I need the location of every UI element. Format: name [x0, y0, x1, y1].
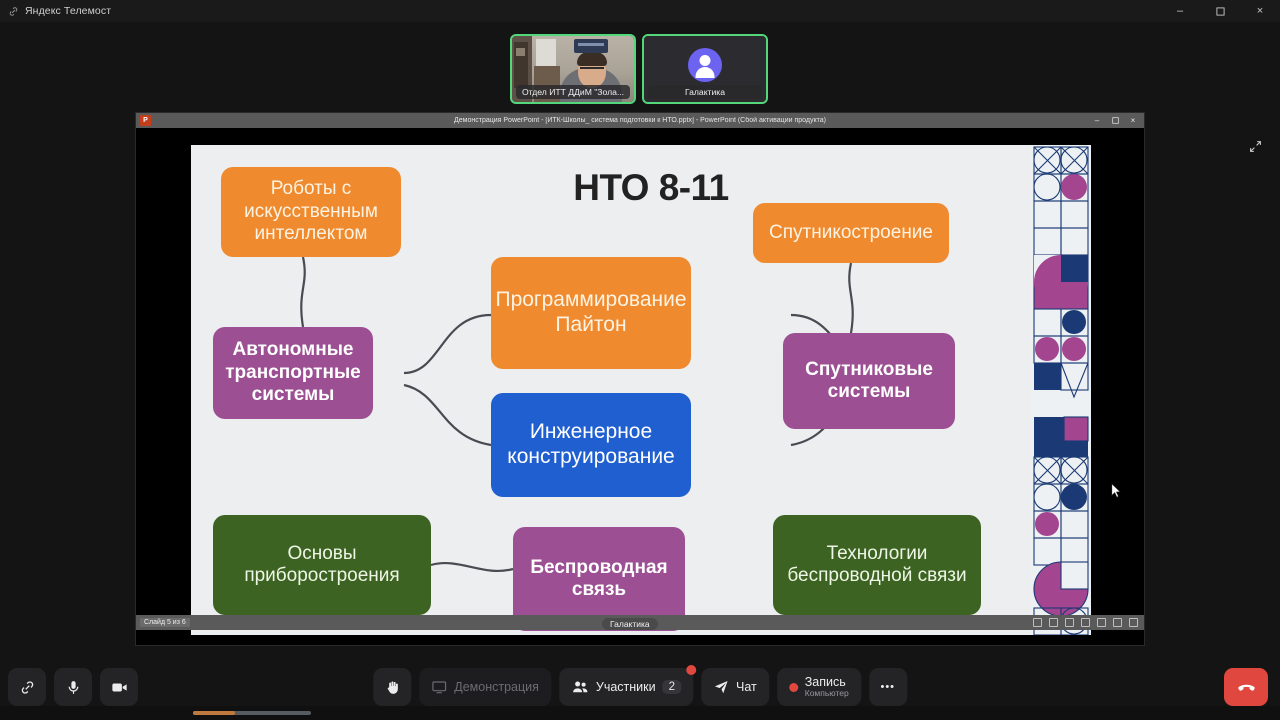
- participant-tile-avatar[interactable]: Галактика: [642, 34, 768, 104]
- slide-node-python: Программирование Пайтон: [491, 257, 691, 369]
- record-dot-icon: [789, 683, 798, 692]
- progress-bar[interactable]: [193, 711, 311, 715]
- window-minimize-button[interactable]: –: [1160, 0, 1200, 22]
- window-controls: – ×: [1160, 0, 1280, 22]
- app-title-bar: Яндекс Телемост – ×: [0, 0, 1280, 22]
- record-label: Запись: [805, 676, 846, 690]
- raise-hand-button[interactable]: [373, 668, 411, 706]
- previous-slide-icon[interactable]: [1033, 618, 1042, 627]
- meeting-stage: Отдел ИТТ ДДиМ "Зола... Галактика P Демо…: [0, 22, 1280, 656]
- powerpoint-window-controls: – ×: [1088, 113, 1142, 128]
- slide-node-satellite-build: Спутникостроение: [753, 203, 949, 263]
- people-icon: [571, 678, 589, 696]
- powerpoint-canvas: НТО 8-11 Роботы с искусственным интеллек…: [136, 128, 1144, 630]
- powerpoint-minimize-button[interactable]: –: [1088, 113, 1106, 128]
- demonstration-button[interactable]: Демонстрация: [419, 668, 551, 706]
- presentation-slide: НТО 8-11 Роботы с искусственным интеллек…: [191, 145, 1091, 635]
- expand-icon[interactable]: [1244, 135, 1266, 157]
- participants-label: Участники: [596, 680, 656, 694]
- screen-share-icon: [431, 679, 447, 695]
- participant-name-label: Отдел ИТТ ДДиМ "Зола...: [516, 85, 630, 99]
- slide-grid-icon[interactable]: [1097, 618, 1106, 627]
- control-bar-left-group: [8, 668, 138, 706]
- hangup-button[interactable]: [1224, 668, 1268, 706]
- phone-hangup-icon: [1237, 678, 1256, 697]
- zoom-icon[interactable]: [1113, 618, 1122, 627]
- more-options-button[interactable]: •••: [869, 668, 907, 706]
- control-bar-right-group: [1224, 668, 1268, 706]
- demonstration-label: Демонстрация: [454, 680, 539, 694]
- avatar-icon: [688, 48, 722, 82]
- powerpoint-status-icons: [1033, 618, 1138, 627]
- slide-node-instrument-basics: Основы приборостроения: [213, 515, 431, 615]
- more-options-icon[interactable]: [1129, 618, 1138, 627]
- slide-title: НТО 8-11: [521, 167, 781, 209]
- microphone-button[interactable]: [54, 668, 92, 706]
- send-icon: [713, 679, 729, 695]
- chat-label: Чат: [736, 680, 757, 694]
- record-sublabel: Компьютер: [805, 689, 849, 698]
- powerpoint-close-button[interactable]: ×: [1124, 113, 1142, 128]
- slide-node-satellite-systems: Спутниковые системы: [783, 333, 955, 429]
- window-maximize-button[interactable]: [1200, 0, 1240, 22]
- powerpoint-restore-button[interactable]: [1106, 113, 1124, 128]
- slide-counter: Слайд 5 из 6: [140, 618, 190, 627]
- progress-bar-fill: [193, 711, 235, 715]
- participant-name-label: Галактика: [648, 85, 762, 99]
- chat-button[interactable]: Чат: [701, 668, 769, 706]
- participants-button[interactable]: Участники 2: [559, 668, 693, 706]
- slide-node-autonomous: Автономные транспортные системы: [213, 327, 373, 419]
- camera-button[interactable]: [100, 668, 138, 706]
- presenter-name-tooltip: Галактика: [602, 618, 658, 630]
- participants-count: 2: [663, 680, 681, 694]
- record-button[interactable]: Запись Компьютер: [777, 668, 861, 706]
- slide-node-engineering: Инженерное конструирование: [491, 393, 691, 497]
- powerpoint-window-title: Демонстрация PowerPoint - [ИТК-Школы_ си…: [136, 117, 1144, 124]
- pen-tools-icon[interactable]: [1049, 618, 1058, 627]
- window-close-button[interactable]: ×: [1240, 0, 1280, 22]
- control-bar-center-group: Демонстрация Участники 2 Чат: [373, 668, 907, 706]
- app-title: Яндекс Телемост: [25, 5, 111, 17]
- mouse-cursor: [1111, 483, 1121, 498]
- shared-screen-window[interactable]: P Демонстрация PowerPoint - [ИТК-Школы_ …: [135, 112, 1145, 646]
- copy-link-button[interactable]: [8, 668, 46, 706]
- video-camera-icon: [110, 678, 129, 697]
- participant-tile-camera[interactable]: Отдел ИТТ ДДиМ "Зола...: [510, 34, 636, 104]
- link-icon: [19, 679, 36, 696]
- taskbar-strip: [0, 706, 1280, 720]
- slide-node-robots-ai: Роботы с искусственным интеллектом: [221, 167, 401, 257]
- notes-icon[interactable]: [1081, 618, 1090, 627]
- participants-notification-badge: [686, 665, 696, 675]
- app-logo-icon: [6, 4, 20, 18]
- powerpoint-title-bar: P Демонстрация PowerPoint - [ИТК-Школы_ …: [136, 113, 1144, 128]
- microphone-icon: [65, 679, 82, 696]
- participant-thumbnail-strip: Отдел ИТТ ДДиМ "Зола... Галактика: [510, 34, 768, 104]
- ellipsis-icon: •••: [880, 681, 895, 693]
- decorative-pattern-strip: [1031, 145, 1091, 635]
- next-slide-icon[interactable]: [1065, 618, 1074, 627]
- slide-node-wireless-tech: Технологии беспроводной связи: [773, 515, 981, 615]
- hand-icon: [384, 679, 401, 696]
